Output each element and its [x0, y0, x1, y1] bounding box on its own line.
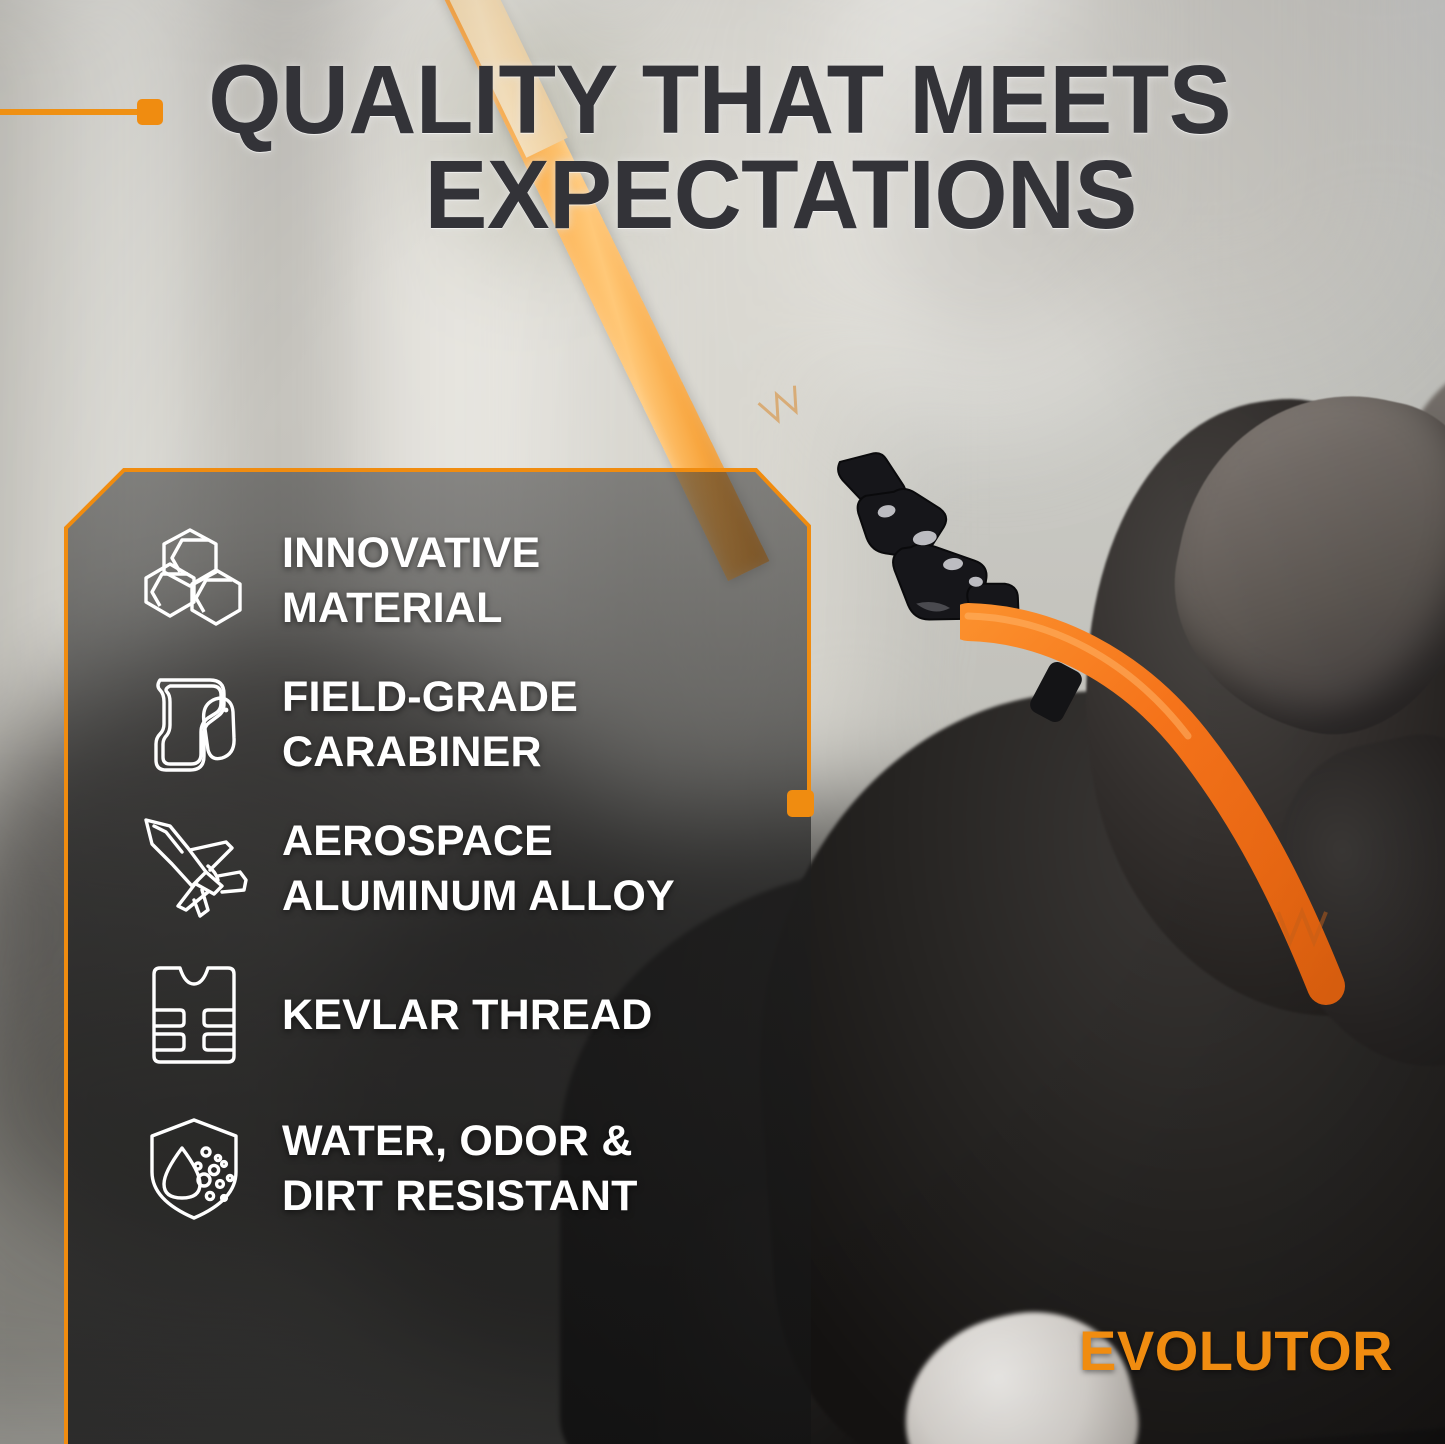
- headline-line-2: EXPECTATIONS: [22, 147, 1424, 242]
- feature-label-line-1: AEROSPACE: [282, 817, 553, 865]
- feature-label: KEVLAR THREAD: [282, 988, 653, 1043]
- feature-label-line-1: KEVLAR THREAD: [282, 991, 653, 1039]
- water-shield-droplet-icon: [136, 1114, 252, 1224]
- feature-label-line-2: MATERIAL: [282, 584, 503, 632]
- feature-item-kevlar-thread: KEVLAR THREAD: [136, 960, 816, 1070]
- honeycomb-hexagons-icon: [136, 526, 252, 636]
- feature-label: AEROSPACE ALUMINUM ALLOY: [282, 814, 675, 924]
- feature-label-line-2: ALUMINUM ALLOY: [282, 872, 675, 920]
- feature-label-line-1: WATER, ODOR &: [282, 1117, 633, 1165]
- feature-item-aerospace-aluminum-alloy: AEROSPACE ALUMINUM ALLOY: [136, 814, 816, 924]
- feature-label-line-2: DIRT RESISTANT: [282, 1172, 638, 1220]
- brand-logo: EVOLUTOR: [1075, 1285, 1375, 1405]
- feature-label-line-1: INNOVATIVE: [282, 529, 540, 577]
- feature-label-line-2: CARABINER: [282, 728, 542, 776]
- brand-name: EVOLUTOR: [1079, 1323, 1393, 1379]
- headline-line-1: QUALITY THAT MEETS: [22, 52, 1424, 147]
- feature-item-innovative-material: INNOVATIVE MATERIAL: [136, 526, 816, 636]
- feature-label: FIELD-GRADE CARABINER: [282, 670, 578, 780]
- fighter-jet-icon: [136, 814, 252, 924]
- feature-panel: INNOVATIVE MATERIAL: [66, 462, 811, 1444]
- product-feature-banner: QUALITY THAT MEETS EXPECTATIONS: [0, 0, 1445, 1444]
- feature-list: INNOVATIVE MATERIAL: [136, 524, 816, 1248]
- feature-item-field-grade-carabiner: FIELD-GRADE CARABINER: [136, 670, 816, 780]
- carabiner-icon: [136, 670, 252, 780]
- feature-label-line-1: FIELD-GRADE: [282, 673, 578, 721]
- page-title: QUALITY THAT MEETS EXPECTATIONS: [22, 52, 1424, 242]
- feature-item-water-odor-dirt-resistant: WATER, ODOR & DIRT RESISTANT: [136, 1114, 816, 1224]
- feature-label: INNOVATIVE MATERIAL: [282, 526, 540, 636]
- feature-label: WATER, ODOR & DIRT RESISTANT: [282, 1114, 638, 1224]
- tactical-vest-icon: [136, 960, 252, 1070]
